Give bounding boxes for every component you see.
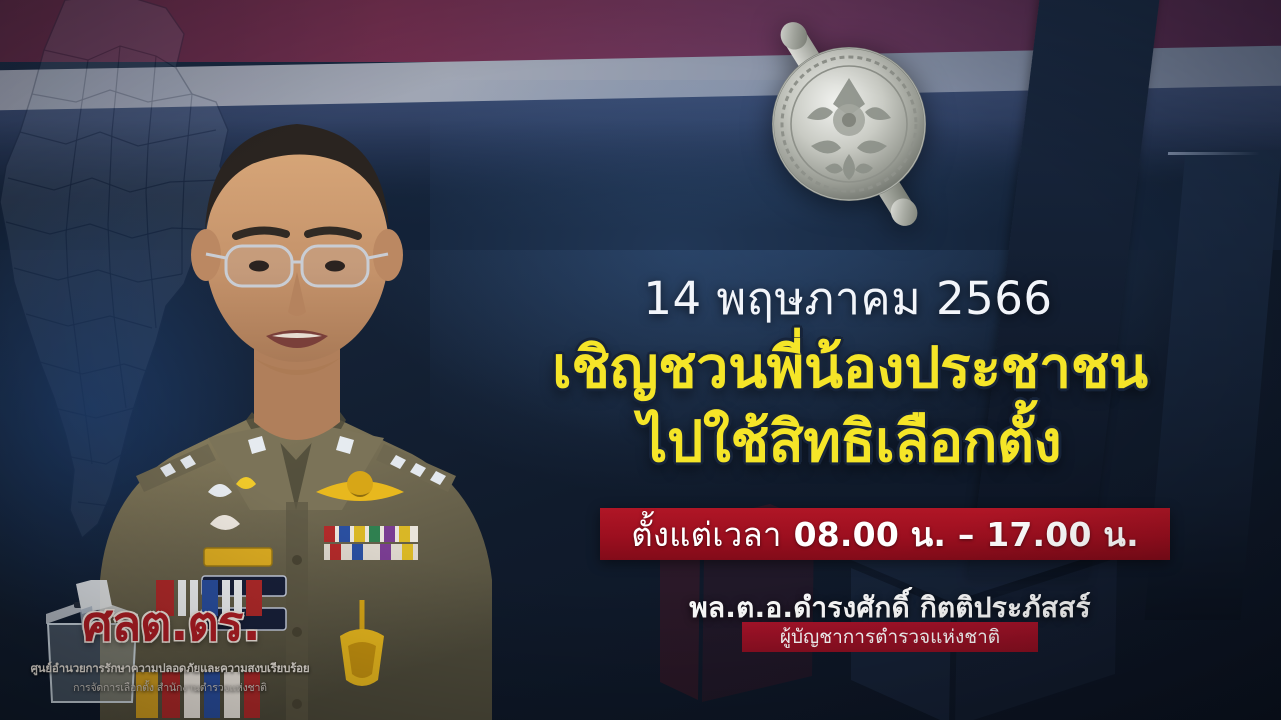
voting-hours-range: 08.00 น. – 17.00 น. bbox=[794, 508, 1139, 561]
agency-subtitle-line-2: การจัดการเลือกตั้ง สำนักงานตำรวจแห่งชาติ bbox=[22, 679, 318, 696]
ballot-box-ghost bbox=[811, 440, 1241, 720]
headline-line-1: เชิญชวนพี่น้องประชาชน bbox=[520, 338, 1180, 400]
headline-line-2: ไปใช้สิทธิเลือกตั้ง bbox=[520, 412, 1180, 474]
event-date: 14 พฤษภาคม 2566 bbox=[548, 262, 1148, 334]
voting-hours-banner: ตั้งแต่เวลา 08.00 น. – 17.00 น. bbox=[600, 508, 1170, 560]
agency-acronym: ศลต.ตร. bbox=[26, 586, 316, 662]
election-announcement-poster: 14 พฤษภาคม 2566 เชิญชวนพี่น้องประชาชน ไป… bbox=[0, 0, 1281, 720]
agency-logo: ศลต.ตร. ศูนย์อำนวยการรักษาความปลอดภัยและ… bbox=[14, 564, 314, 714]
thai-ceremonial-fan-icon bbox=[733, 8, 965, 240]
background-slab-highlight bbox=[1168, 152, 1260, 155]
official-role-label: ผู้บัญชาการตำรวจแห่งชาติ bbox=[780, 622, 1000, 652]
official-role-badge: ผู้บัญชาการตำรวจแห่งชาติ bbox=[742, 622, 1038, 652]
agency-subtitle-line-1: ศูนย์อำนวยการรักษาความปลอดภัยและความสงบเ… bbox=[22, 660, 318, 678]
voting-hours-label: ตั้งแต่เวลา bbox=[631, 508, 781, 561]
